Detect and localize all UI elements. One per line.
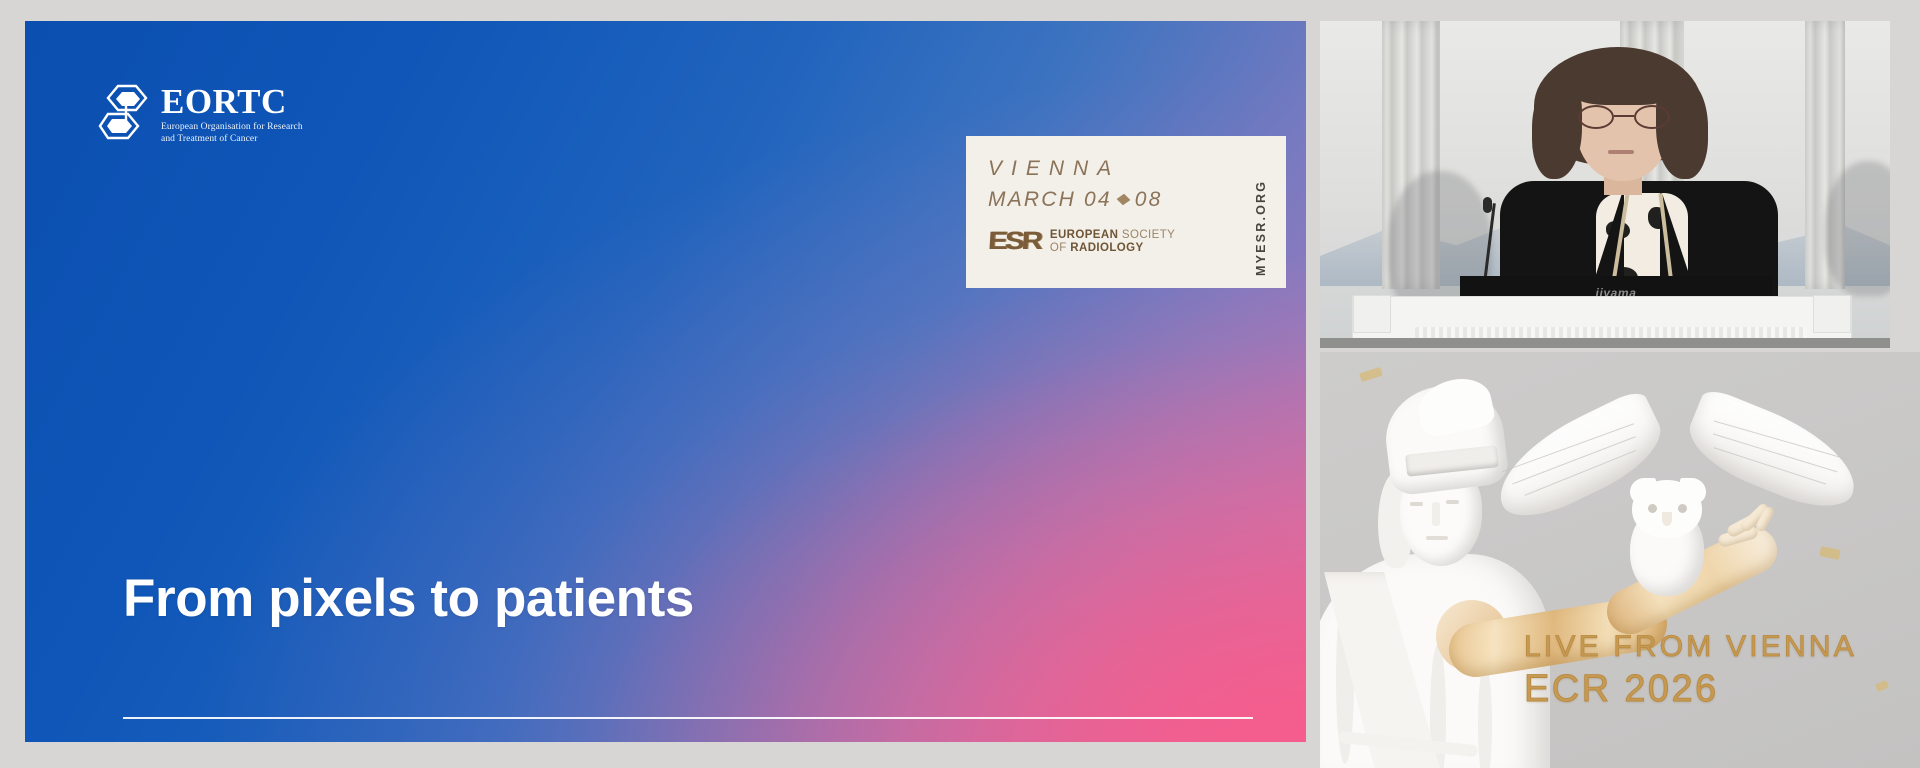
confetti-fleck [1819,546,1841,560]
screen: EORTC European Organisation for Research… [0,0,1920,768]
badge-date-end: 08 [1135,187,1163,212]
speaker-mouth [1608,150,1634,154]
eortc-tagline: European Organisation for Research and T… [161,121,303,145]
event-branding-panel[interactable]: LIVE FROM VIENNA ECR 2026 [1320,352,1920,768]
diamond-icon [1116,194,1130,206]
robe-fold [1478,664,1492,768]
statue-eye [1410,502,1423,506]
glasses-bridge [1614,115,1634,117]
glasses-icon [1578,105,1670,129]
confetti-fleck [1875,680,1889,692]
esr-society: SOCIETY [1122,229,1175,241]
esr-society-name: EUROPEAN SOCIETY OF RADIOLOGY [1050,229,1175,253]
cam-bottom-bar [1320,338,1890,348]
event-headline: LIVE FROM VIENNA ECR 2026 [1524,630,1857,711]
badge-city: VIENNA [988,156,1244,182]
esr-congress-badge: VIENNA MARCH 04 08 ESR EUROPEAN SOCIETY [966,136,1286,288]
owl-head [1632,480,1702,538]
statue-hand [1718,512,1784,564]
glasses-lens-right [1634,105,1670,129]
owl-beak [1662,512,1672,526]
owl-eye [1678,504,1687,513]
eortc-tagline-line2: and Treatment of Cancer [161,133,303,145]
esr-logo: ESR EUROPEAN SOCIETY OF RADIOLOGY [988,227,1244,256]
statue-eye [1446,500,1459,504]
podium-side-panel [1353,295,1391,333]
slide-title: From pixels to patients [123,568,1306,629]
statue-lips [1426,536,1448,540]
glasses-lens-left [1578,105,1614,129]
wing-feather-line [1502,423,1634,472]
speaker-video-panel[interactable]: iiyama [1320,21,1890,348]
eortc-name: EORTC [161,85,303,118]
microphone-head [1483,197,1492,213]
wall-shadow [1825,161,1890,296]
esr-european: EUROPEAN [1050,229,1118,241]
esr-society-line2: OF RADIOLOGY [1050,242,1175,254]
badge-date-start: MARCH 04 [988,187,1112,212]
esr-wordmark: ESR [987,227,1041,256]
speaker-hair-right [1656,79,1708,179]
owl-wing-right [1679,386,1870,521]
esr-radiology: RADIOLOGY [1070,242,1143,254]
owl-eye [1648,504,1657,513]
statue-nose [1432,502,1440,526]
podium-side-panel [1813,295,1851,333]
eortc-logo-text: EORTC European Organisation for Research… [161,84,303,146]
wing-feather-line [1714,447,1827,484]
presentation-slide[interactable]: EORTC European Organisation for Research… [25,21,1306,742]
eortc-cube-icon [98,84,152,140]
event-headline-line1: LIVE FROM VIENNA [1524,630,1857,664]
event-headline-line2: ECR 2026 [1524,668,1857,711]
esr-of: OF [1050,242,1067,254]
esr-society-line1: EUROPEAN SOCIETY [1050,229,1175,241]
confetti-fleck [1359,367,1383,382]
badge-main: VIENNA MARCH 04 08 ESR EUROPEAN SOCIETY [988,156,1244,256]
badge-url: MYESR.ORG [1254,158,1268,276]
title-divider [123,717,1253,719]
eortc-tagline-line1: European Organisation for Research [161,121,303,133]
badge-dates: MARCH 04 08 [988,187,1244,212]
